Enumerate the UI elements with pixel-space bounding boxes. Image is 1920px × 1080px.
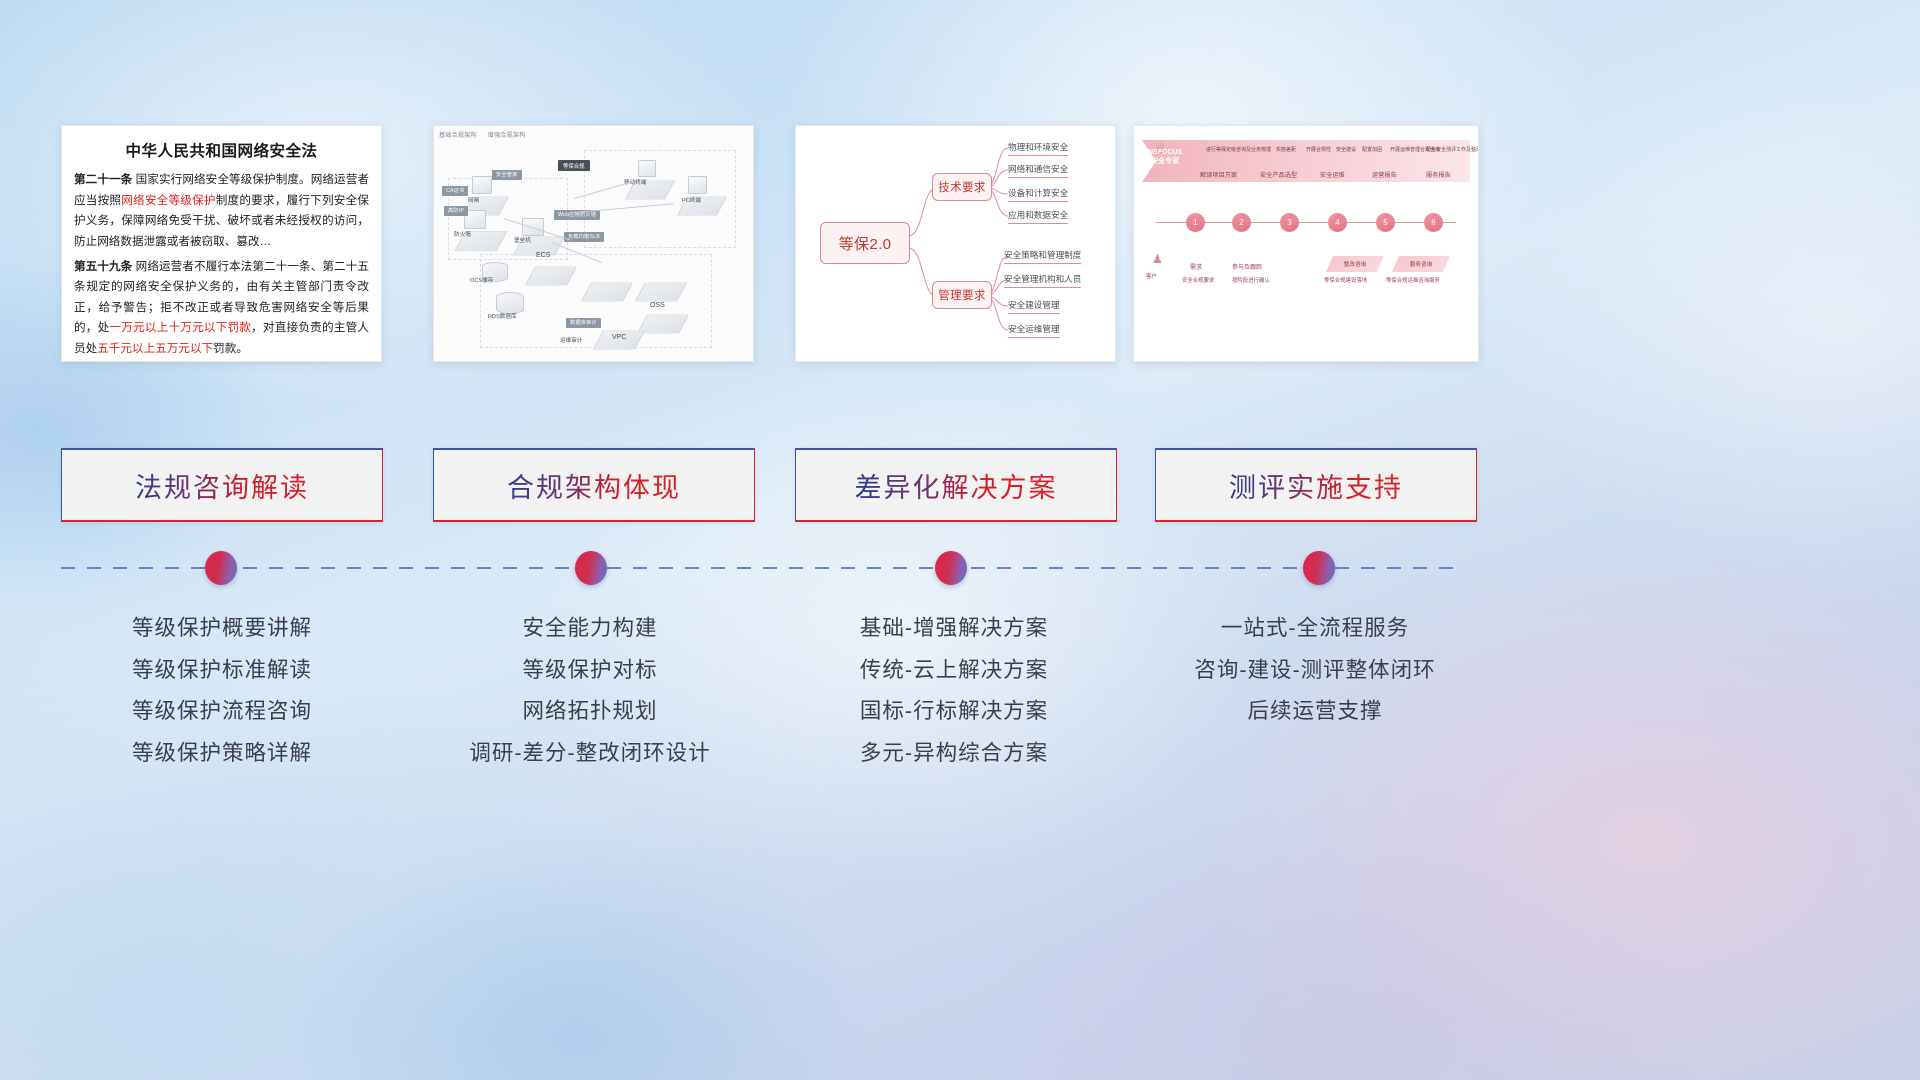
arch-db-cylinder [496,292,524,314]
list-item: 等级保护策略详解 [57,733,387,775]
arch-tag-dengbao: 等保合规 [558,160,590,171]
list-item: 传统-云上解决方案 [789,650,1119,692]
list-item: 一站式-全流程服务 [1150,608,1480,650]
thumbnail-architecture-diagram[interactable]: 基础合规架构 增强合规架构 等保合规 网闸 防火墙 堡垒机 移动终端 PC终端 … [433,125,754,362]
header-label: 测评实施支持 [1229,466,1403,505]
arch-device-box [688,176,707,194]
arch-label-baoleiji: 堡垒机 [514,236,531,244]
law-run-highlight: 一万元以上十万元以下罚款 [109,321,251,334]
law-run-highlight: 五千元以上五万元以下 [97,342,213,355]
law-paragraph-59: 第五十九条 网络运营者不履行本法第二十一条、第二十五条规定的网络安全保护义务的，… [74,257,369,360]
arch-header-basic: 基础合规架构 [439,133,477,139]
arch-label-wangzha: 网闸 [468,196,479,204]
outcome-box: 整改咨询 [1326,256,1384,272]
phase-title: 安全运维 [1320,170,1345,179]
list-column-differentiated-solutions: 基础-增强解决方案 传统-云上解决方案 国标-行标解决方案 多元-异构综合方案 [789,608,1119,774]
band-item: 开展合规性 [1306,146,1331,153]
roadmap-step: 3 [1280,213,1299,232]
arch-device-box [638,160,656,177]
band-item: 配合安全测评工作及整改服务 [1426,146,1479,153]
mindmap-leaf: 应用和数据安全 [1008,209,1068,224]
phase-title: 安全产品选型 [1260,170,1297,179]
list-item: 调研-差分-整改闭环设计 [425,733,755,775]
arch-tag-gaofangip: 高防IP [444,206,468,216]
list-item: 等级保护标准解读 [57,650,387,692]
arch-label-ecs: ECS [536,252,550,259]
list-item: 多元-异构综合方案 [789,733,1119,775]
mindmap-leaf: 安全策略和管理制度 [1004,249,1081,264]
band-item: 进行等保定级咨询及业务梳理 [1206,146,1271,153]
arch-label-oss: OSS [650,302,665,309]
list-item: 等级保护概要讲解 [57,608,387,650]
roadmap-step: 4 [1328,213,1347,232]
list-item: 等级保护对标 [425,650,755,692]
roadmap-canvas: ♕ NSFOCUS安全专家 进行等保定级咨询及业务梳理 实施差距 开展合规性 安… [1134,126,1478,361]
timeline-dot-4 [1303,551,1335,585]
timeline-dot-1 [205,551,237,585]
list-item: 后续运营支撑 [1150,691,1480,733]
mindmap-leaf: 安全管理机构和人员 [1004,273,1081,288]
law-paragraph-21: 第二十一条 国家实行网络安全等级保护制度。网络运营者应当按照网络安全等级保护制度… [74,170,369,253]
mindmap-leaf: 网络和通信安全 [1008,163,1068,178]
band-item: 安全建设 [1336,146,1356,153]
arch-label-rds: RDS数据库 [488,312,517,320]
phase-title: 服务报告 [1426,170,1451,179]
phase-title: 解读项目方案 [1200,170,1237,179]
header-box-evaluation-support[interactable]: 测评实施支持 [1155,448,1477,522]
phase-title: 运营报告 [1372,170,1397,179]
timeline-dot-2 [575,551,607,585]
thumbnail-law-text[interactable]: 中华人民共和国网络安全法 第二十一条 国家实行网络安全等级保护制度。网络运营者应… [61,125,382,362]
architecture-canvas: 基础合规架构 增强合规架构 等保合规 网闸 防火墙 堡垒机 移动终端 PC终端 … [434,126,753,361]
header-box-regulation-consulting[interactable]: 法规咨询解读 [61,448,383,522]
timeline-dashed-line [61,567,1456,569]
customer-icon: ♟ [1152,252,1163,266]
mindmap-branch-management: 管理要求 [932,281,992,309]
mindmap-leaf: 安全运维管理 [1008,323,1060,338]
mindmap-leaf: 安全建设管理 [1008,299,1060,314]
mindmap-canvas: 等保2.0 技术要求 管理要求 物理和环境安全 网络和通信安全 设备和计算安全 … [796,126,1115,361]
list-column-compliance-architecture: 安全能力构建 等级保护对标 网络拓扑规划 调研-差分-整改闭环设计 [425,608,755,774]
header-label: 合规架构体现 [507,466,681,505]
list-item: 咨询-建设-测评整体闭环 [1150,650,1480,692]
list-item: 国标-行标解决方案 [789,691,1119,733]
thumbnail-mindmap[interactable]: 等保2.0 技术要求 管理要求 物理和环境安全 网络和通信安全 设备和计算安全 … [795,125,1116,362]
arch-label-pc: PC终端 [682,196,701,204]
arch-label-ocs: OCS缓存 [470,276,493,284]
law-article-label-21: 第二十一条 [74,173,132,186]
customer-need: 需求 [1190,262,1202,271]
arch-header-enhanced: 增强合规架构 [488,133,526,139]
thumbnail-roadmap[interactable]: ♕ NSFOCUS安全专家 进行等保定级咨询及业务梳理 实施差距 开展合规性 安… [1133,125,1479,362]
law-body: 第二十一条 国家实行网络安全等级保护制度。网络运营者应当按照网络安全等级保护制度… [62,170,381,360]
header-label: 差异化解决方案 [855,466,1058,505]
customer-sub: 安全合规要求 [1182,276,1214,284]
law-title: 中华人民共和国网络安全法 [62,139,381,161]
list-column-regulation-consulting: 等级保护概要讲解 等级保护标准解读 等级保护流程咨询 等级保护策略详解 [57,608,387,774]
law-run: 罚款。 [213,342,248,355]
mindmap-leaf: 物理和环境安全 [1008,141,1068,156]
arch-tag-ca: CA证书 [442,186,468,196]
list-item: 基础-增强解决方案 [789,608,1119,650]
roadmap-step: 2 [1232,213,1251,232]
law-article-label-59: 第五十九条 [74,260,132,273]
header-box-compliance-architecture[interactable]: 合规架构体现 [433,448,755,522]
outcome-sub: 等保合规建设落地 [1324,276,1367,284]
mindmap-branch-technical: 技术要求 [932,173,992,201]
list-item: 网络拓扑规划 [425,691,755,733]
band-item: 配置加固 [1362,146,1382,153]
architecture-header: 基础合规架构 增强合规架构 [439,130,535,139]
list-column-evaluation-support: 一站式-全流程服务 咨询-建设-测评整体闭环 后续运营支撑 [1150,608,1480,733]
arch-label-vpc: VPC [612,334,626,341]
mindmap-leaf: 设备和计算安全 [1008,187,1068,202]
arch-label-opsaudit: 运维审计 [560,336,582,344]
customer-sub: 按阶段进行确认 [1232,276,1270,284]
arch-device-box [472,176,492,194]
header-box-differentiated-solutions[interactable]: 差异化解决方案 [795,448,1117,522]
roadmap-step: 1 [1186,213,1205,232]
roadmap-step: 6 [1424,213,1443,232]
band-item: 实施差距 [1276,146,1296,153]
timeline-dot-3 [935,551,967,585]
roadmap-brand: NSFOCUS安全专家 [1148,148,1182,167]
list-item: 等级保护流程咨询 [57,691,387,733]
arch-tag-anquanguanjia: 安全管家 [492,170,522,180]
list-item: 安全能力构建 [425,608,755,650]
header-label: 法规咨询解读 [135,466,309,505]
arch-tag-dbaudit: 数据库审计 [566,318,601,328]
customer-participate: 参与及跟踪 [1232,262,1262,271]
arch-label-fanghuoqiang: 防火墙 [454,230,471,238]
roadmap-step: 5 [1376,213,1395,232]
outcome-box: 服务咨询 [1392,256,1450,272]
customer-label: 客户 [1146,272,1157,280]
law-run-highlight: 网络安全等级保护 [121,194,215,207]
mindmap-root: 等保2.0 [820,222,910,264]
outcome-sub: 等保合规运维咨询服务 [1386,276,1440,284]
